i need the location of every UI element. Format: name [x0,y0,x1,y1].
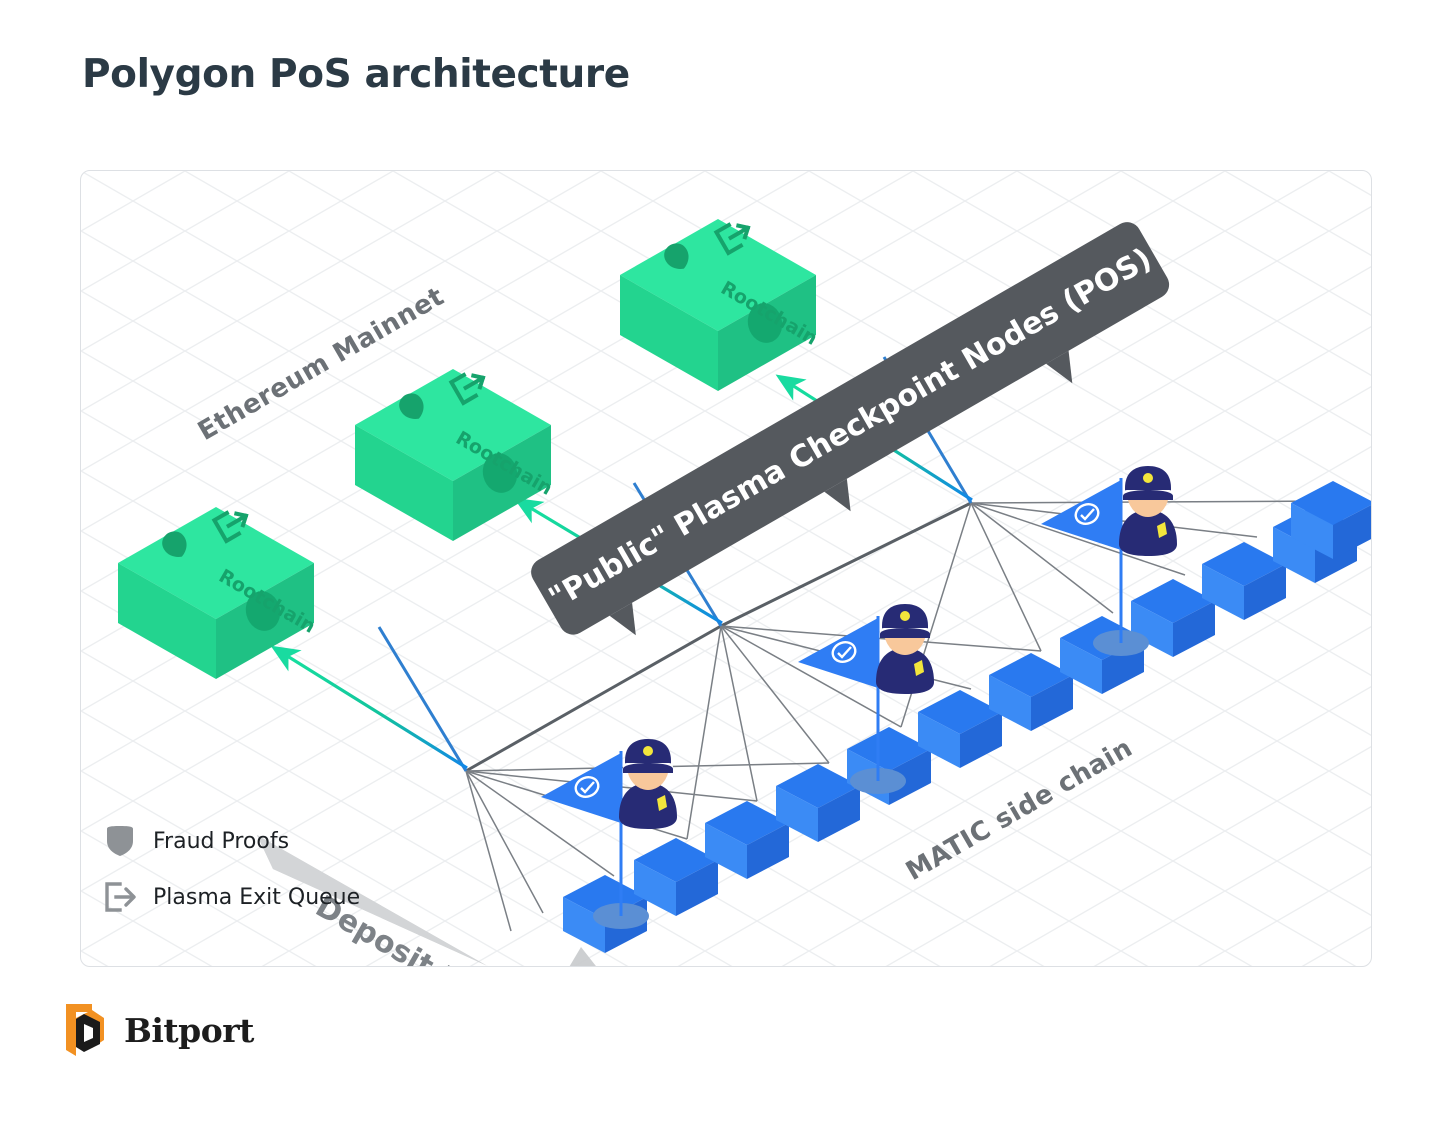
checkpoint-node[interactable] [1021,438,1171,638]
page-title: Polygon PoS architecture [82,52,630,97]
validator-avatar [619,739,677,829]
exit-icon [103,880,137,914]
legend-item: Fraud Proofs [103,824,360,858]
shield-icon [103,824,137,858]
validator-avatar [876,604,934,694]
checkpoint-node[interactable] [521,711,671,911]
sidechain-block [1287,477,1372,563]
rootchain-cube: Rootchain [106,501,316,676]
checkpoint-node[interactable] [778,576,928,776]
legend-label: Fraud Proofs [153,829,289,854]
diagram-page: Polygon PoS architecture [0,0,1450,1124]
bitport-logo-icon [62,1000,114,1060]
diagram-panel: Rootchain Ro [80,170,1372,967]
bitport-wordmark: Bitport [124,1011,254,1050]
bitport-logo: Bitport [62,1000,254,1060]
rootchain-cube: Rootchain [608,213,818,388]
validator-avatar [1119,466,1177,556]
diagram-stage: Rootchain Ro [81,171,1371,966]
legend-label: Plasma Exit Queue [153,885,360,910]
rootchain-cube: Rootchain [343,363,553,538]
legend: Fraud Proofs Plasma Exit Queue [103,824,360,936]
legend-item: Plasma Exit Queue [103,880,360,914]
